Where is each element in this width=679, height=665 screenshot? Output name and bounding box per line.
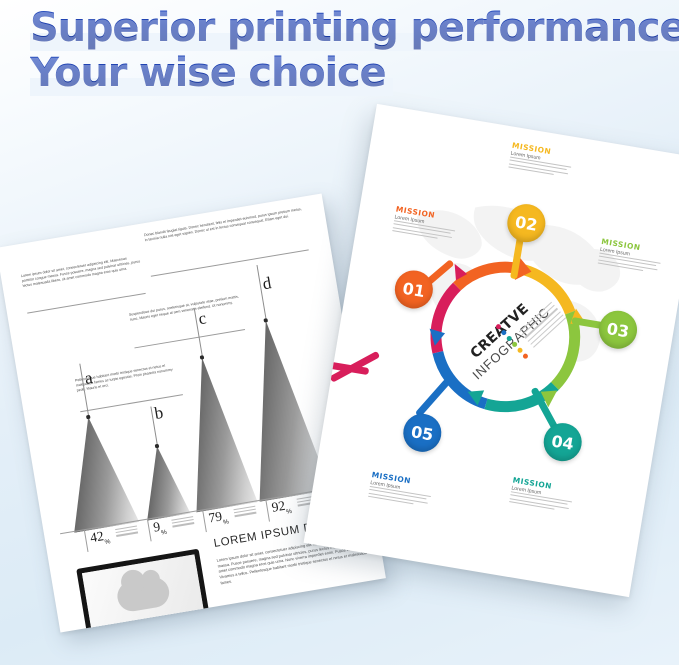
- chart-value-a-lines: [115, 525, 138, 538]
- headline-line-1-text: Superior printing performance: [30, 5, 679, 51]
- monitor-illustration: [76, 549, 213, 633]
- headline-line-2: Your wise choice: [30, 51, 679, 96]
- headline-line-1: Superior printing performance: [30, 6, 679, 51]
- chart-value-d: 92: [270, 498, 286, 515]
- chart-value-a: 42: [89, 528, 105, 545]
- headline-line-2-text: Your wise choice: [30, 50, 385, 96]
- chart-bar-c: [171, 352, 257, 512]
- node-04-number: 04: [550, 431, 575, 453]
- chart-label-b: b: [153, 404, 164, 422]
- mission-label-05: MISSION Lorem Ipsum: [368, 470, 438, 510]
- right-printed-page: 01 02 03 04 05 MISSION Lorem Ipsum MISSI…: [304, 104, 679, 597]
- chart-unit-a: %: [104, 538, 111, 546]
- headline-block: Superior printing performance Your wise …: [0, 0, 679, 96]
- chart-value-c-lines: [233, 506, 256, 519]
- chart-label-d: d: [261, 274, 272, 292]
- chart-bar-b: [135, 442, 190, 520]
- monitor-frame: [76, 549, 210, 633]
- chart-value-b-lines: [171, 516, 194, 529]
- chart-unit-c: %: [223, 518, 230, 526]
- chart-unit-d: %: [286, 508, 293, 516]
- chart-label-c: c: [197, 309, 207, 327]
- chart-value-c: 79: [207, 508, 223, 525]
- node-01-number: 01: [401, 278, 426, 300]
- chart-label-a: a: [83, 369, 93, 387]
- node-03-number: 03: [605, 318, 630, 340]
- right-page-content: 01 02 03 04 05 MISSION Lorem Ipsum MISSI…: [304, 104, 679, 597]
- mission-label-04: MISSION Lorem Ipsum: [509, 475, 579, 515]
- chart-unit-b: %: [161, 529, 168, 537]
- chart-value-b: 9: [152, 519, 161, 535]
- infographic-node-05[interactable]: 05: [400, 411, 444, 455]
- monitor-neck: [138, 625, 162, 632]
- node-02-number: 02: [514, 212, 539, 234]
- chart-bar-a: [56, 412, 140, 533]
- node-05-number: 05: [410, 422, 435, 444]
